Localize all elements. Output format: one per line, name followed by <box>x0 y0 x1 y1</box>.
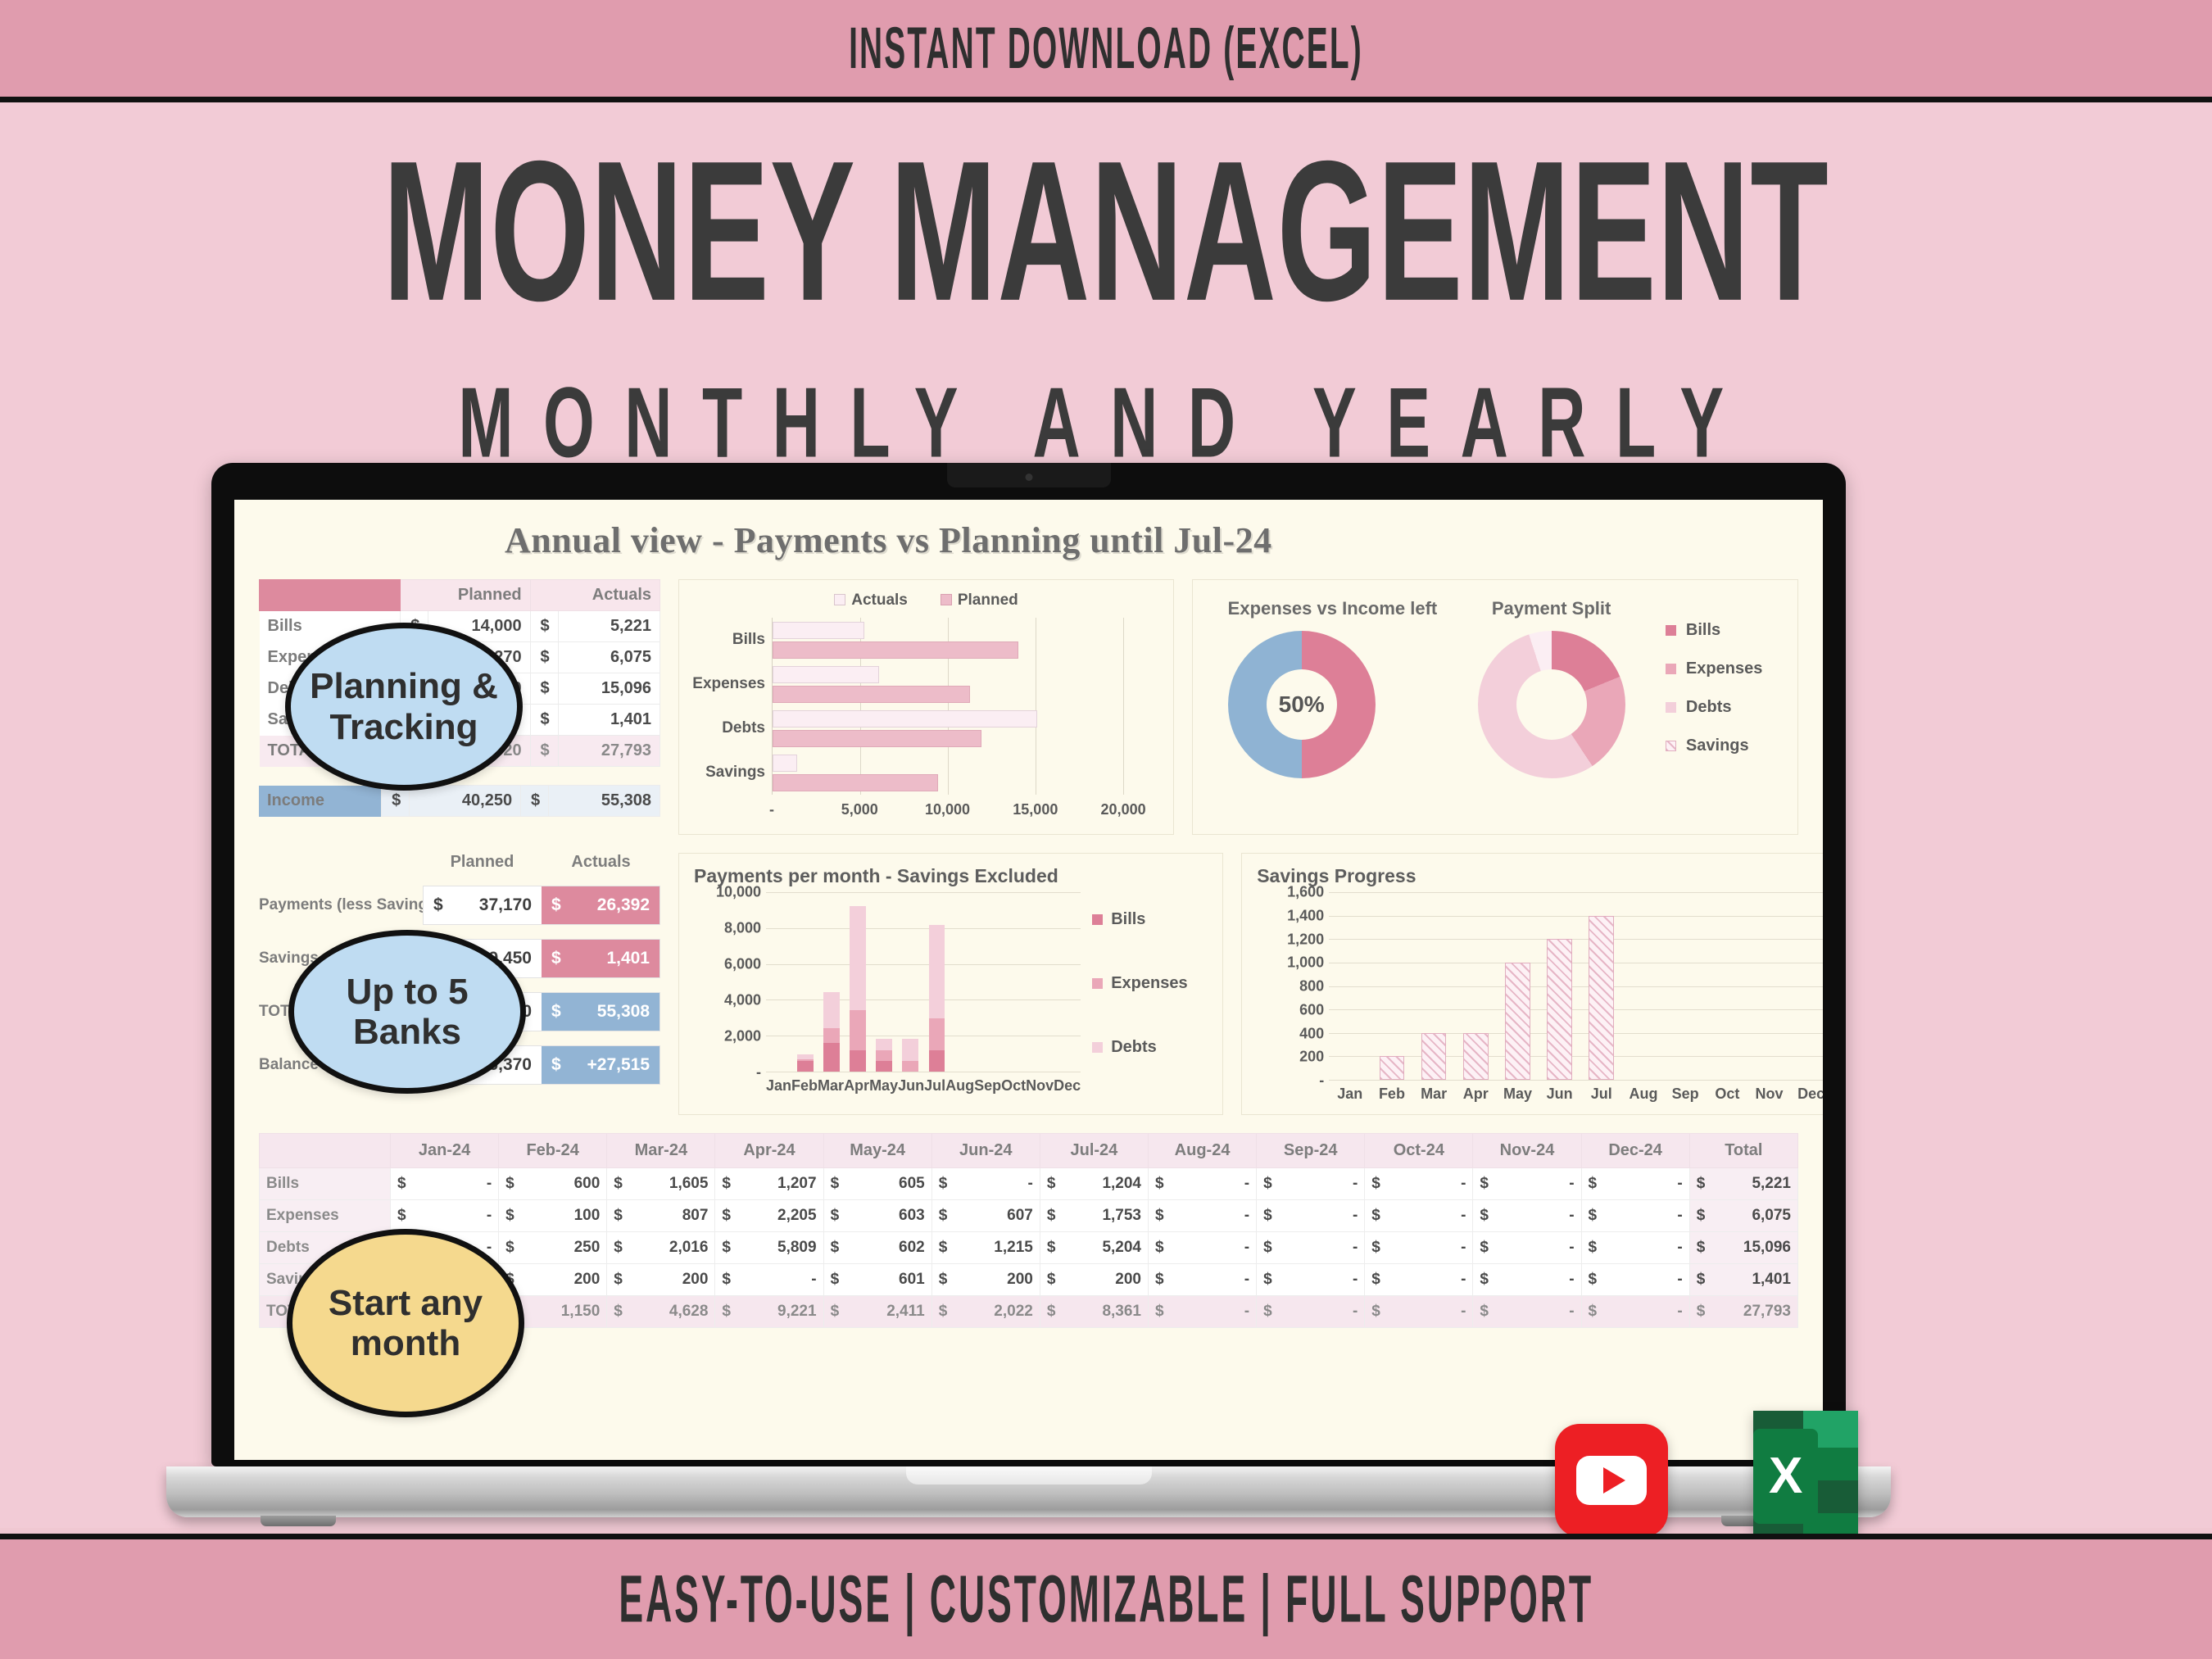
laptop-foot-left <box>261 1516 336 1526</box>
camera-icon <box>1025 474 1032 481</box>
bar-mar <box>818 892 845 1072</box>
chart-y-axis: -2,0004,0006,0008,00010,000 <box>694 892 766 1072</box>
bar-may <box>871 892 897 1072</box>
col-header-nov-24: Nov-24 <box>1473 1134 1581 1168</box>
bar-debts-actuals <box>773 710 1037 728</box>
legend-item-bills: Bills <box>1666 621 1762 640</box>
bar-feb <box>792 892 818 1072</box>
table-corner-cell <box>260 580 401 611</box>
chart-plot-area: Bills Expenses Debts Savings <box>694 618 1158 795</box>
segment-savings <box>1463 1033 1489 1080</box>
x-tick: 5,000 <box>841 801 878 818</box>
bar-group <box>773 750 1158 795</box>
cell-total-may-24: $2,411 <box>823 1296 931 1328</box>
bar-jun <box>1539 892 1580 1080</box>
y-tick: 1,400 <box>1287 907 1324 924</box>
cell-total-jul-24: $8,361 <box>1040 1296 1148 1328</box>
card-actual: $1,401 <box>542 940 660 977</box>
y-tick: - <box>1319 1072 1324 1090</box>
chart-payments-vs-planning: Actuals Planned Bills Expenses Debts Sav… <box>678 579 1174 835</box>
cell-savings-nov-24: $- <box>1473 1264 1581 1296</box>
segment-bills <box>823 1043 839 1072</box>
chart-category-labels: Bills Expenses Debts Savings <box>694 618 772 795</box>
row-label-income: Income <box>259 786 382 817</box>
x-tick: Sep <box>974 1077 1001 1095</box>
cell-total-actuals: 27,793 <box>558 736 660 767</box>
bar-feb <box>1371 892 1412 1080</box>
currency-symbol: $ <box>1047 1207 1056 1225</box>
currency-symbol: $ <box>722 1239 731 1257</box>
currency-symbol: $ <box>1155 1271 1164 1289</box>
currency-symbol: $ <box>1697 1303 1706 1321</box>
cell-expenses-jan-24: $- <box>391 1200 499 1232</box>
cell-bills-mar-24: $1,605 <box>607 1168 715 1200</box>
currency-symbol: $ <box>831 1207 840 1225</box>
donut-chart-expenses-vs-income: 50% <box>1228 631 1376 778</box>
segment-savings <box>1421 1033 1447 1080</box>
gridline <box>766 1072 1081 1072</box>
cell-total-dec-24: $- <box>1581 1296 1689 1328</box>
col-header-row-label <box>260 1134 391 1168</box>
segment-bills <box>929 1050 945 1072</box>
cell-savings-may-24: $601 <box>823 1264 931 1296</box>
chart-plot <box>1329 892 1823 1081</box>
table-row: Expenses$-$100$807$2,205$603$607$1,753$-… <box>260 1200 1798 1232</box>
youtube-play-body <box>1576 1456 1647 1505</box>
cell-debts-actuals: 15,096 <box>558 673 660 705</box>
card-actual: $26,392 <box>542 886 660 924</box>
legend-swatch-actuals <box>834 594 845 605</box>
legend-item-expenses: Expenses <box>1666 660 1762 678</box>
segment-debts <box>823 992 839 1028</box>
axis-label-bills: Bills <box>694 618 772 662</box>
cell-bills-jul-24: $1,204 <box>1040 1168 1148 1200</box>
chart-bars <box>772 618 1158 795</box>
segment-savings <box>1589 916 1614 1080</box>
cell-bills-sep-24: $- <box>1257 1168 1365 1200</box>
cell-bills-total: $5,221 <box>1689 1168 1797 1200</box>
currency-symbol: $ <box>1263 1271 1272 1289</box>
cell-total-sep-24: $- <box>1257 1296 1365 1328</box>
legend-item-debts: Debts <box>1092 1038 1157 1057</box>
bars <box>766 892 1081 1072</box>
spreadsheet-title: Annual view - Payments vs Planning until… <box>505 519 1823 561</box>
cell-bills-oct-24: $- <box>1365 1168 1473 1200</box>
excel-grid: X <box>1753 1411 1858 1542</box>
badge-label: Up to 5 Banks <box>309 972 505 1053</box>
table-row-income: Income $ 40,250 $ 55,308 <box>259 786 660 817</box>
y-tick: 1,000 <box>1287 954 1324 972</box>
cell-expenses-oct-24: $- <box>1365 1200 1473 1232</box>
currency-symbol: $ <box>1047 1239 1056 1257</box>
currency-symbol: $ <box>722 1303 731 1321</box>
axis-label-expenses: Expenses <box>694 662 772 706</box>
x-tick: Dec <box>1790 1086 1823 1103</box>
bar-sep <box>1665 892 1707 1080</box>
chart-title-expenses-vs-income: Expenses vs Income left <box>1228 598 1438 619</box>
col-header-jun-24: Jun-24 <box>931 1134 1040 1168</box>
bar-jun <box>897 892 923 1072</box>
y-tick: - <box>756 1064 761 1081</box>
currency-symbol: $ <box>831 1175 840 1193</box>
currency-symbol: $ <box>1155 1239 1164 1257</box>
hero-section: MONEY MANAGEMENT MONTHLY AND YEARLY Annu… <box>0 102 2212 1528</box>
donut-center-label: 50% <box>1267 669 1337 740</box>
x-tick: Mar <box>1413 1086 1455 1103</box>
cell-debts-aug-24: $- <box>1148 1232 1256 1264</box>
cell-savings-sep-24: $- <box>1257 1264 1365 1296</box>
bar-jul <box>1580 892 1622 1080</box>
bar-savings-actuals <box>773 755 797 772</box>
currency-symbol: $ <box>1047 1271 1056 1289</box>
bar-mar <box>1413 892 1455 1080</box>
cards-header-actuals: Actuals <box>542 853 660 872</box>
x-tick: 10,000 <box>925 801 970 818</box>
card-actual: $55,308 <box>542 993 660 1031</box>
x-tick: Aug <box>1622 1086 1664 1103</box>
bar-may <box>1497 892 1539 1080</box>
cell-debts-apr-24: $5,809 <box>715 1232 823 1264</box>
bar-apr <box>1455 892 1497 1080</box>
cell-expenses-aug-24: $- <box>1148 1200 1256 1232</box>
chart-x-axis: JanFebMarAprMayJunJulAugSepOctNovDec <box>1329 1086 1823 1103</box>
currency-symbol: $ <box>831 1271 840 1289</box>
cell-total-total: $27,793 <box>1689 1296 1797 1328</box>
play-triangle-icon <box>1603 1467 1625 1494</box>
currency-symbol: $ <box>521 786 549 817</box>
currency-symbol: $ <box>1263 1207 1272 1225</box>
excel-x-letter: X <box>1753 1429 1818 1523</box>
currency-symbol: $ <box>1155 1303 1164 1321</box>
x-tick: Nov <box>1748 1086 1790 1103</box>
currency-symbol: $ <box>939 1175 948 1193</box>
currency-symbol: $ <box>1371 1207 1380 1225</box>
x-tick: May <box>1497 1086 1539 1103</box>
bar-jul <box>923 892 950 1072</box>
income-table: Income $ 40,250 $ 55,308 <box>259 785 660 817</box>
currency-symbol: $ <box>614 1271 623 1289</box>
cell-total-aug-24: $- <box>1148 1296 1256 1328</box>
segment-debts <box>929 925 945 1018</box>
legend-item-planned: Planned <box>941 592 1018 610</box>
legend-swatch-bills <box>1666 625 1676 636</box>
col-header-aug-24: Aug-24 <box>1148 1134 1256 1168</box>
donut-payment-split: Payment Split <box>1478 598 1625 778</box>
y-tick: 600 <box>1299 1001 1324 1018</box>
cell-total-nov-24: $- <box>1473 1296 1581 1328</box>
x-tick: 20,000 <box>1101 801 1146 818</box>
x-tick: Apr <box>1455 1086 1497 1103</box>
currency-symbol: $ <box>614 1175 623 1193</box>
currency-symbol: $ <box>1589 1271 1598 1289</box>
x-tick: Nov <box>1026 1077 1054 1095</box>
currency-symbol: $ <box>1480 1175 1489 1193</box>
cell-total-mar-24: $4,628 <box>607 1296 715 1328</box>
chart-body: -2004006008001,0001,2001,4001,600 JanFeb… <box>1257 892 1823 1103</box>
title-block: MONEY MANAGEMENT MONTHLY AND YEARLY <box>0 131 2212 445</box>
cell-income-actuals: 55,308 <box>549 786 660 817</box>
segment-expenses <box>876 1050 891 1061</box>
segment-savings <box>1505 963 1530 1080</box>
currency-symbol: $ <box>831 1239 840 1257</box>
currency-symbol: $ <box>1589 1175 1598 1193</box>
chart-plot <box>766 892 1081 1072</box>
x-tick: Mar <box>818 1077 844 1095</box>
axis-label-savings: Savings <box>694 750 772 795</box>
currency-symbol: $ <box>1047 1175 1056 1193</box>
bar-nov <box>1028 892 1054 1072</box>
legend-swatch-bills <box>1092 914 1103 925</box>
segment-expenses <box>850 1010 865 1049</box>
donut-legend: Bills Expenses Debts Savings <box>1666 601 1762 775</box>
x-tick: Jul <box>924 1077 945 1095</box>
bar-savings-planned <box>773 774 938 791</box>
cell-bills-dec-24: $- <box>1581 1168 1689 1200</box>
segment-bills <box>850 1050 865 1072</box>
currency-symbol: $ <box>505 1239 514 1257</box>
cell-savings-dec-24: $- <box>1581 1264 1689 1296</box>
card-planned: $37,170 <box>424 886 542 924</box>
table-row: Bills$-$600$1,605$1,207$605$-$1,204$-$-$… <box>260 1168 1798 1200</box>
currency-symbol: $ <box>1371 1175 1380 1193</box>
currency-symbol: $ <box>1155 1175 1164 1193</box>
cell-debts-sep-24: $- <box>1257 1232 1365 1264</box>
page-title: MONEY MANAGEMENT <box>78 131 2135 331</box>
x-tick: Sep <box>1665 1086 1707 1103</box>
currency-symbol: $ <box>530 736 558 767</box>
y-tick: 6,000 <box>724 956 761 973</box>
x-tick: Apr <box>844 1077 869 1095</box>
y-tick: 1,600 <box>1287 884 1324 901</box>
table-header-row: Jan-24Feb-24Mar-24Apr-24May-24Jun-24Jul-… <box>260 1134 1798 1168</box>
currency-symbol: $ <box>1589 1207 1598 1225</box>
bar-apr <box>845 892 871 1072</box>
cell-savings-actuals: 1,401 <box>558 705 660 736</box>
cell-total-apr-24: $9,221 <box>715 1296 823 1328</box>
row-label-expenses: Expenses <box>260 1200 391 1232</box>
col-header-sep-24: Sep-24 <box>1257 1134 1365 1168</box>
currency-symbol: $ <box>1371 1271 1380 1289</box>
youtube-icon[interactable] <box>1555 1424 1668 1537</box>
legend-swatch-expenses <box>1092 978 1103 989</box>
cell-debts-total: $15,096 <box>1689 1232 1797 1264</box>
bar-debts-planned <box>773 730 981 747</box>
cell-bills-jun-24: $- <box>931 1168 1040 1200</box>
currency-symbol: $ <box>530 642 558 673</box>
col-header-total: Total <box>1689 1134 1797 1168</box>
col-header-actuals: Actuals <box>530 580 660 611</box>
y-tick: 10,000 <box>716 884 761 901</box>
cell-debts-mar-24: $2,016 <box>607 1232 715 1264</box>
currency-symbol: $ <box>505 1207 514 1225</box>
legend-swatch-expenses <box>1666 664 1676 674</box>
col-header-jul-24: Jul-24 <box>1040 1134 1148 1168</box>
cell-savings-apr-24: $- <box>715 1264 823 1296</box>
currency-symbol: $ <box>1371 1303 1380 1321</box>
bar-sep <box>976 892 1002 1072</box>
axis-label-debts: Debts <box>694 706 772 750</box>
cell-expenses-dec-24: $- <box>1581 1200 1689 1232</box>
donut-center-hole <box>1516 669 1587 740</box>
y-tick: 1,200 <box>1287 931 1324 948</box>
y-tick: 4,000 <box>724 992 761 1009</box>
badge-start-any-month: Start any month <box>287 1229 524 1417</box>
cell-bills-feb-24: $600 <box>499 1168 607 1200</box>
cell-expenses-jun-24: $607 <box>931 1200 1040 1232</box>
col-header-planned: Planned <box>401 580 530 611</box>
x-tick: Oct <box>1001 1077 1026 1095</box>
card-label: Payments (less Savings) <box>259 896 423 914</box>
badge-label: Planning & Tracking <box>306 666 502 747</box>
bar-aug <box>950 892 976 1072</box>
legend-item-debts: Debts <box>1666 698 1762 717</box>
currency-symbol: $ <box>1697 1175 1706 1193</box>
x-tick: - <box>769 801 774 818</box>
legend-swatch-savings <box>1666 741 1676 751</box>
segment-expenses <box>902 1061 918 1072</box>
cell-savings-jun-24: $200 <box>931 1264 1040 1296</box>
chart-x-axis: JanFebMarAprMayJunJulAugSepOctNovDec <box>766 1077 1081 1095</box>
currency-symbol: $ <box>1263 1239 1272 1257</box>
currency-symbol: $ <box>831 1303 840 1321</box>
cards-header: Planned Actuals <box>423 853 660 872</box>
features-text: EASY-TO-USE | CUSTOMIZABLE | FULL SUPPOR… <box>619 1561 1593 1638</box>
currency-symbol: $ <box>614 1207 623 1225</box>
col-header-may-24: May-24 <box>823 1134 931 1168</box>
bars <box>1329 892 1823 1080</box>
cell-bills-jan-24: $- <box>391 1168 499 1200</box>
y-tick: 800 <box>1299 978 1324 995</box>
x-tick: 15,000 <box>1013 801 1058 818</box>
chart-savings-progress: Savings Progress -2004006008001,0001,200… <box>1241 853 1823 1115</box>
cell-expenses-nov-24: $- <box>1473 1200 1581 1232</box>
segment-savings <box>1547 939 1572 1080</box>
x-tick: Feb <box>1371 1086 1412 1103</box>
segment-debts <box>850 906 865 1010</box>
bar-oct <box>1002 892 1028 1072</box>
cell-expenses-mar-24: $807 <box>607 1200 715 1232</box>
cell-debts-feb-24: $250 <box>499 1232 607 1264</box>
cell-debts-jun-24: $1,215 <box>931 1232 1040 1264</box>
x-tick: Jun <box>1539 1086 1580 1103</box>
cell-expenses-total: $6,075 <box>1689 1200 1797 1232</box>
segment-debts <box>876 1039 891 1049</box>
x-tick: Dec <box>1054 1077 1081 1095</box>
currency-symbol: $ <box>397 1207 406 1225</box>
cell-bills-actuals: 5,221 <box>558 611 660 642</box>
bar-jan <box>1329 892 1371 1080</box>
chart-payments-per-month: Payments per month - Savings Excluded -2… <box>678 853 1223 1115</box>
legend-swatch-debts <box>1092 1042 1103 1053</box>
chart-title-payments-per-month: Payments per month - Savings Excluded <box>694 865 1208 887</box>
segment-savings <box>1380 1056 1405 1080</box>
currency-symbol: $ <box>939 1239 948 1257</box>
chart-donuts: Expenses vs Income left 50% Payment Spli… <box>1192 579 1798 835</box>
excel-icon[interactable]: X <box>1753 1411 1858 1542</box>
card-payments-less-savings: Payments (less Savings) $37,170 $26,392 <box>259 886 660 925</box>
x-tick: Jun <box>898 1077 924 1095</box>
row-label-bills: Bills <box>260 1168 391 1200</box>
legend-item-expenses: Expenses <box>1092 974 1187 993</box>
chart-body: -2,0004,0006,0008,00010,000 JanFebMarApr… <box>694 892 1208 1095</box>
cell-total-oct-24: $- <box>1365 1296 1473 1328</box>
bar-dec <box>1054 892 1081 1072</box>
currency-symbol: $ <box>1697 1207 1706 1225</box>
y-tick: 8,000 <box>724 920 761 937</box>
cell-bills-nov-24: $- <box>1473 1168 1581 1200</box>
badge-label: Start any month <box>307 1283 504 1364</box>
legend-item-savings: Savings <box>1666 737 1762 755</box>
cell-savings-jul-24: $200 <box>1040 1264 1148 1296</box>
cell-expenses-may-24: $603 <box>823 1200 931 1232</box>
currency-symbol: $ <box>939 1271 948 1289</box>
currency-symbol: $ <box>1047 1303 1056 1321</box>
card-actual: $+27,515 <box>542 1046 660 1084</box>
cell-expenses-actuals: 6,075 <box>558 642 660 673</box>
cell-bills-aug-24: $- <box>1148 1168 1256 1200</box>
chart-legend: Actuals Planned <box>694 592 1158 610</box>
cell-debts-may-24: $602 <box>823 1232 931 1264</box>
cell-expenses-sep-24: $- <box>1257 1200 1365 1232</box>
bar-jan <box>766 892 792 1072</box>
top-banner: INSTANT DOWNLOAD (EXCEL) <box>0 0 2212 102</box>
currency-symbol: $ <box>722 1175 731 1193</box>
bottom-banner: EASY-TO-USE | CUSTOMIZABLE | FULL SUPPOR… <box>0 1534 2212 1659</box>
cards-header-planned: Planned <box>423 853 542 872</box>
currency-symbol: $ <box>614 1239 623 1257</box>
donut-expenses-vs-income: Expenses vs Income left 50% <box>1228 598 1438 778</box>
currency-symbol: $ <box>1589 1303 1598 1321</box>
currency-symbol: $ <box>1480 1303 1489 1321</box>
chart-x-axis: -5,00010,00015,00020,000 <box>772 801 1158 823</box>
cell-savings-total: $1,401 <box>1689 1264 1797 1296</box>
x-tick: Aug <box>945 1077 974 1095</box>
bar-oct <box>1707 892 1748 1080</box>
laptop-base-notch <box>906 1466 1152 1484</box>
currency-symbol: $ <box>530 705 558 736</box>
x-tick: Feb <box>791 1077 818 1095</box>
cell-debts-dec-24: $- <box>1581 1232 1689 1264</box>
currency-symbol: $ <box>397 1175 406 1193</box>
cell-expenses-apr-24: $2,205 <box>715 1200 823 1232</box>
bar-nov <box>1748 892 1790 1080</box>
y-tick: 200 <box>1299 1049 1324 1066</box>
currency-symbol: $ <box>939 1207 948 1225</box>
bar-aug <box>1622 892 1664 1080</box>
bar-bills-planned <box>773 641 1018 659</box>
donut-row: Expenses vs Income left 50% Payment Spli… <box>1208 592 1783 778</box>
currency-symbol: $ <box>1480 1239 1489 1257</box>
badge-up-to-5-banks: Up to 5 Banks <box>288 930 526 1094</box>
x-tick: Oct <box>1707 1086 1748 1103</box>
bar-expenses-planned <box>773 686 970 703</box>
chart-legend: Bills Expenses Debts <box>1081 892 1208 1095</box>
cell-debts-nov-24: $- <box>1473 1232 1581 1264</box>
legend-item-actuals: Actuals <box>834 592 908 610</box>
col-header-oct-24: Oct-24 <box>1365 1134 1473 1168</box>
currency-symbol: $ <box>722 1207 731 1225</box>
currency-symbol: $ <box>1589 1239 1598 1257</box>
cell-savings-oct-24: $- <box>1365 1264 1473 1296</box>
currency-symbol: $ <box>1371 1239 1380 1257</box>
bar-dec <box>1790 892 1823 1080</box>
segment-bills <box>797 1061 813 1072</box>
legend-swatch-planned <box>941 594 952 605</box>
instant-download-text: INSTANT DOWNLOAD (EXCEL) <box>849 15 1363 82</box>
currency-symbol: $ <box>939 1303 948 1321</box>
currency-symbol: $ <box>530 611 558 642</box>
segment-expenses <box>929 1018 945 1049</box>
